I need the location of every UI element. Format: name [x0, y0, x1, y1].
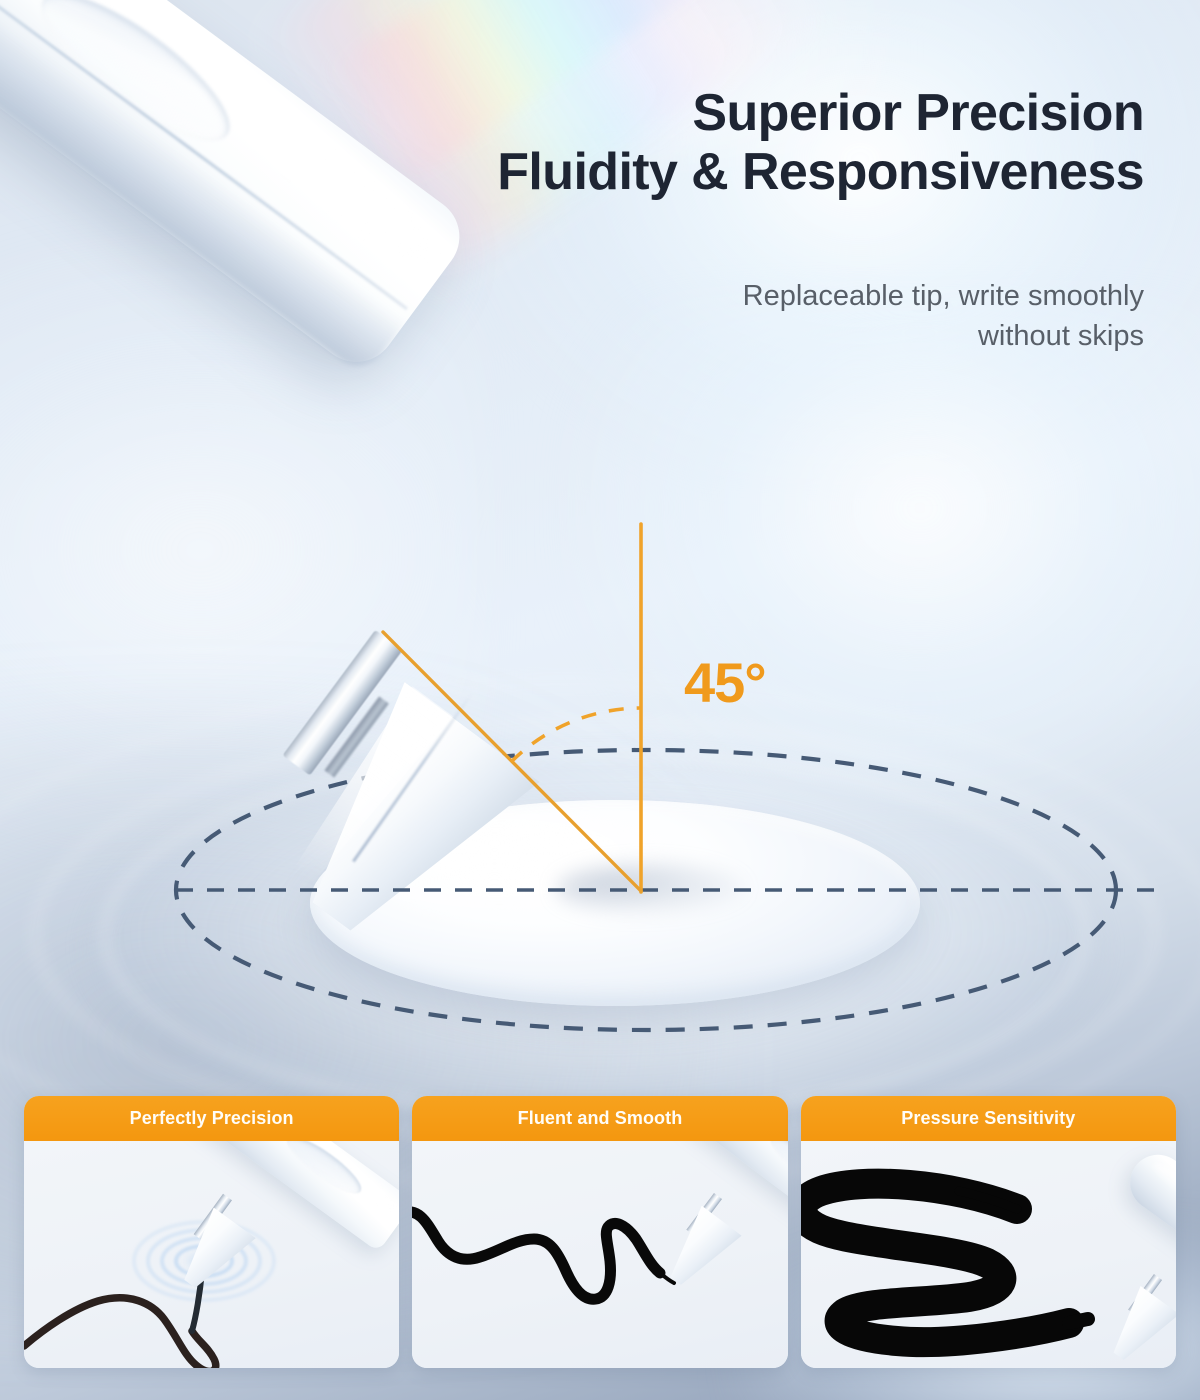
feature-card-illustration-precision — [24, 1141, 399, 1368]
feature-card-illustration-pressure — [801, 1141, 1176, 1368]
feature-card-title: Pressure Sensitivity — [801, 1096, 1176, 1141]
feature-card-title: Fluent and Smooth — [412, 1096, 787, 1141]
product-feature-banner: Superior Precision Fluidity & Responsive… — [0, 0, 1200, 1400]
feature-card-illustration-fluency — [412, 1141, 787, 1368]
feature-card-fluent-and-smooth[interactable]: Fluent and Smooth — [412, 1096, 787, 1368]
feature-card-title: Perfectly Precision — [24, 1096, 399, 1141]
feature-card-row: Perfectly Precision — [24, 1096, 1176, 1368]
ink-stroke-pressure-s — [801, 1141, 1176, 1368]
angle-arc-dashed — [511, 708, 641, 762]
angle-value-label: 45° — [684, 650, 766, 715]
feature-card-pressure-sensitivity[interactable]: Pressure Sensitivity — [801, 1096, 1176, 1368]
ink-stroke-wave — [412, 1141, 787, 1368]
feature-card-perfectly-precision[interactable]: Perfectly Precision — [24, 1096, 399, 1368]
ink-stroke-loop — [24, 1141, 399, 1368]
